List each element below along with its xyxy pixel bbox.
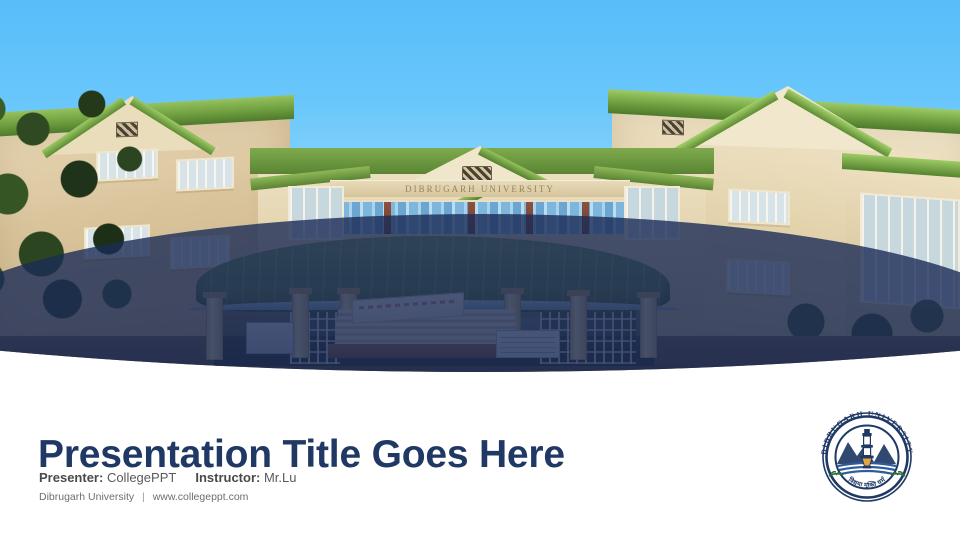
right-wing-window — [728, 188, 790, 225]
entrance-kiosk — [246, 322, 294, 354]
right-gable-vent — [662, 120, 684, 136]
facade-sign-board: DIBRUGARH UNIVERSITY — [330, 180, 630, 197]
center-window-grid-left — [288, 186, 344, 240]
hero-photo-inner: DIBRUGARH UNIVERSITY — [0, 0, 960, 372]
university-logo: DIBRUGARH UNIVERSITY — [812, 402, 922, 512]
left-wing-window — [176, 156, 234, 191]
glazing-pier — [582, 202, 589, 234]
website-url[interactable]: www.collegeppt.com — [153, 491, 249, 503]
center-facade-glazing — [340, 200, 624, 236]
canopy-column — [292, 292, 309, 358]
facade-sign-text: DIBRUGARH UNIVERSITY — [330, 180, 630, 197]
instructor-label: Instructor: — [195, 470, 260, 485]
canopy-column — [640, 296, 657, 358]
notice-board — [496, 330, 560, 358]
center-window-grid-right — [624, 186, 680, 240]
presenter-name: CollegePPT — [107, 470, 176, 485]
organization-line: Dibrugarh University | www.collegeppt.co… — [39, 491, 248, 503]
glazing-pier — [526, 202, 533, 234]
hero-photo: DIBRUGARH UNIVERSITY — [0, 0, 960, 372]
canopy-column — [206, 296, 223, 360]
glazing-pier — [468, 202, 475, 234]
tree-foliage-left — [0, 74, 180, 324]
separator: | — [137, 491, 150, 503]
canopy-column — [570, 294, 587, 360]
presenter-line: Presenter: CollegePPT Instructor: Mr.Lu — [39, 470, 296, 485]
instructor-name: Mr.Lu — [264, 470, 297, 485]
presenter-label: Presenter: — [39, 470, 103, 485]
glazing-pier — [384, 202, 391, 234]
presentation-slide: DIBRUGARH UNIVERSITY — [0, 0, 960, 540]
entrance-steps-base — [328, 344, 524, 358]
organization-name: Dibrugarh University — [39, 491, 134, 503]
